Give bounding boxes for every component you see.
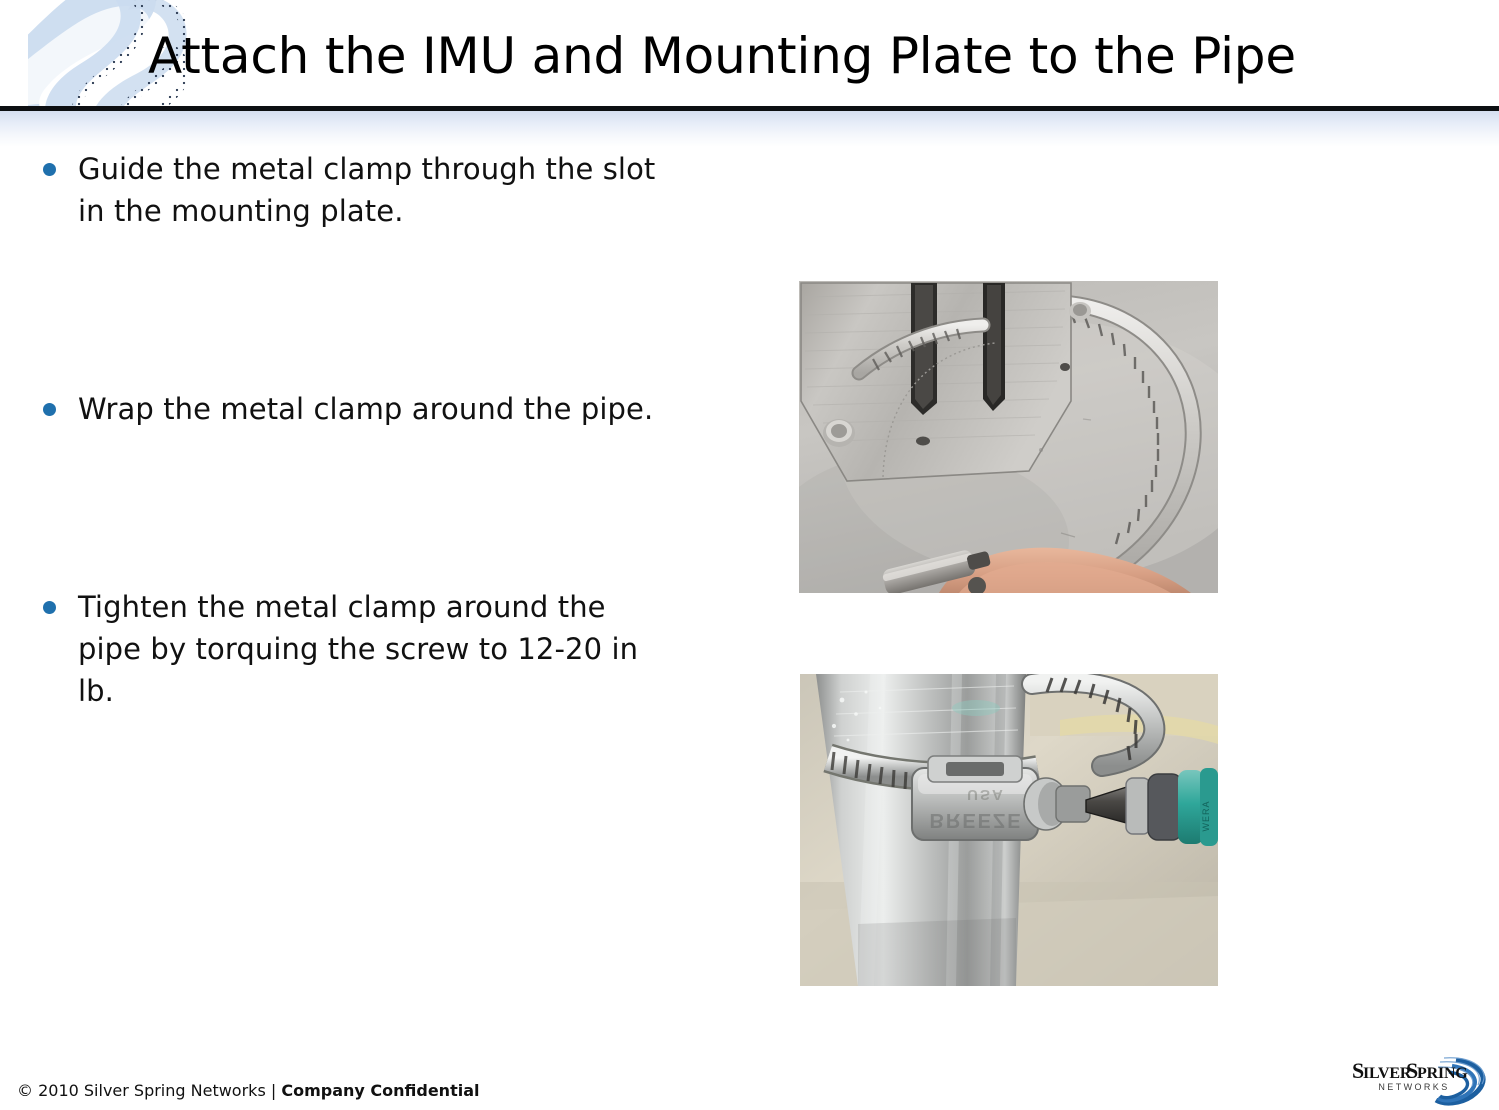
- photo-clamp-through-mounting-plate: [799, 281, 1218, 593]
- bullet-text: Wrap the metal clamp around the pipe.: [78, 388, 678, 430]
- bullet-dot-icon: [43, 601, 56, 614]
- svg-text:NETWORKS: NETWORKS: [1378, 1082, 1449, 1092]
- slide-header: Attach the IMU and Mounting Plate to the…: [0, 0, 1499, 112]
- bullet-text: Guide the metal clamp through the slot i…: [78, 148, 678, 232]
- svg-text:WERA: WERA: [1201, 801, 1211, 832]
- bullet-dot-icon: [43, 403, 56, 416]
- page-title: Attach the IMU and Mounting Plate to the…: [148, 26, 1468, 86]
- slide-footer: © 2010 Silver Spring Networks | Company …: [0, 1042, 1499, 1110]
- footer-confidential-label: Company Confidential: [281, 1081, 479, 1100]
- photo-tighten-clamp-on-pipe: BREEZE USA: [800, 674, 1218, 986]
- svg-text:BREEZE: BREEZE: [929, 809, 1022, 831]
- footer-copyright-text: © 2010 Silver Spring Networks |: [17, 1081, 281, 1100]
- slide-body: Guide the metal clamp through the slot i…: [0, 112, 1499, 1042]
- bullet-dot-icon: [43, 163, 56, 176]
- silver-spring-networks-logo: S ILVER S PRING NETWORKS: [1352, 1048, 1492, 1106]
- slide-canvas: Attach the IMU and Mounting Plate to the…: [0, 0, 1499, 1110]
- bullet-spacer: [34, 430, 734, 586]
- svg-text:ILVER: ILVER: [1363, 1065, 1412, 1082]
- instruction-bullet-list: Guide the metal clamp through the slot i…: [34, 148, 734, 712]
- svg-text:USA: USA: [967, 786, 1005, 803]
- list-item: Tighten the metal clamp around the pipe …: [34, 586, 734, 712]
- svg-text:PRING: PRING: [1417, 1065, 1468, 1082]
- footer-copyright: © 2010 Silver Spring Networks | Company …: [17, 1081, 479, 1101]
- list-item: Wrap the metal clamp around the pipe.: [34, 388, 734, 430]
- list-item: Guide the metal clamp through the slot i…: [34, 148, 734, 232]
- bullet-spacer: [34, 232, 734, 388]
- bullet-text: Tighten the metal clamp around the pipe …: [78, 586, 678, 712]
